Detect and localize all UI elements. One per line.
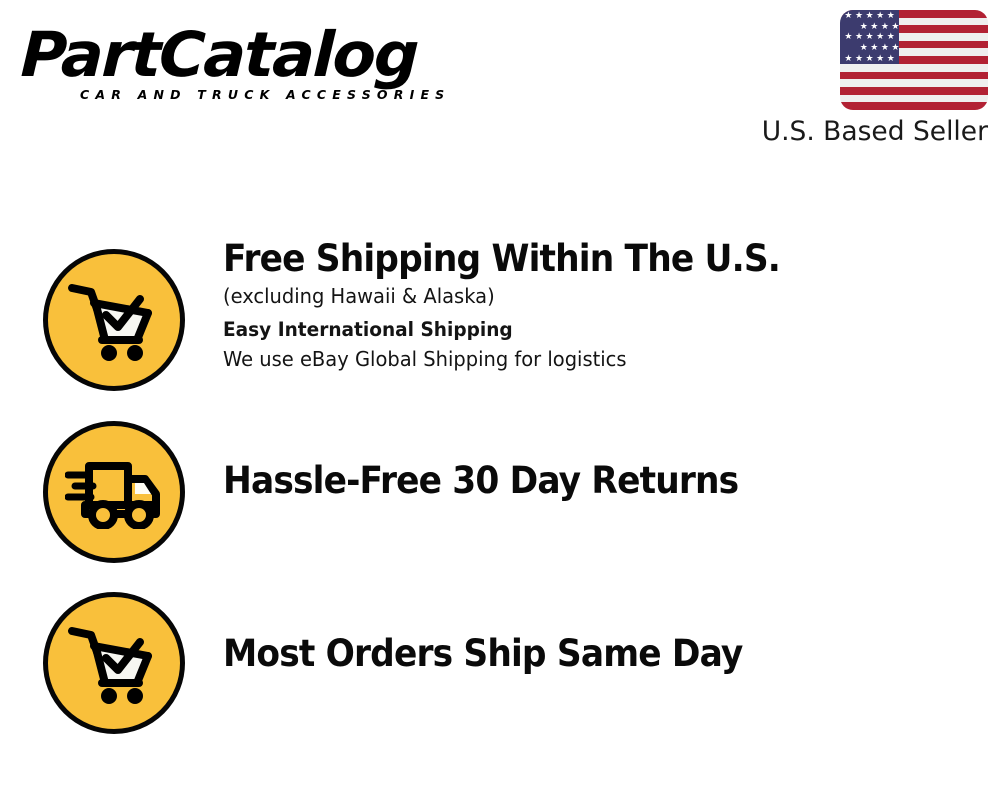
- brand-logo[interactable]: PartCatalog CAR AND TRUCK ACCESSORIES: [22, 24, 492, 114]
- feature-text: Hassle-Free 30 Day Returns: [223, 408, 963, 503]
- feature-subheading: Easy International Shipping: [223, 316, 926, 344]
- shopping-cart-check-icon: [43, 592, 185, 734]
- feature-title: Free Shipping Within The U.S.: [223, 236, 911, 281]
- feature-row: Hassle-Free 30 Day Returns: [0, 408, 1000, 580]
- page-header: PartCatalog CAR AND TRUCK ACCESSORIES ★ …: [0, 0, 1000, 170]
- delivery-truck-icon: [43, 421, 185, 563]
- feature-text: Most Orders Ship Same Day: [223, 579, 963, 676]
- brand-wordmark: PartCatalog: [20, 24, 502, 86]
- us-flag-icon: ★ ★ ★ ★ ★ ★ ★ ★ ★ ★ ★ ★ ★ ★ ★ ★ ★ ★ ★ ★ …: [840, 10, 988, 110]
- seller-label: U.S. Based Seller: [718, 117, 988, 147]
- feature-subnote: (excluding Hawaii & Alaska): [223, 282, 926, 310]
- shopping-cart-check-icon: [43, 249, 185, 391]
- feature-title: Most Orders Ship Same Day: [223, 631, 911, 676]
- us-based-seller-badge: ★ ★ ★ ★ ★ ★ ★ ★ ★ ★ ★ ★ ★ ★ ★ ★ ★ ★ ★ ★ …: [718, 10, 988, 147]
- feature-text: Free Shipping Within The U.S. (excluding…: [223, 236, 963, 373]
- feature-row: Most Orders Ship Same Day: [0, 579, 1000, 754]
- feature-row: Free Shipping Within The U.S. (excluding…: [0, 236, 1000, 412]
- feature-title: Hassle-Free 30 Day Returns: [223, 458, 911, 503]
- flag-canton: ★ ★ ★ ★ ★ ★ ★ ★ ★ ★ ★ ★ ★ ★ ★ ★ ★ ★ ★ ★ …: [840, 10, 899, 64]
- feature-subdetail: We use eBay Global Shipping for logistic…: [223, 345, 926, 373]
